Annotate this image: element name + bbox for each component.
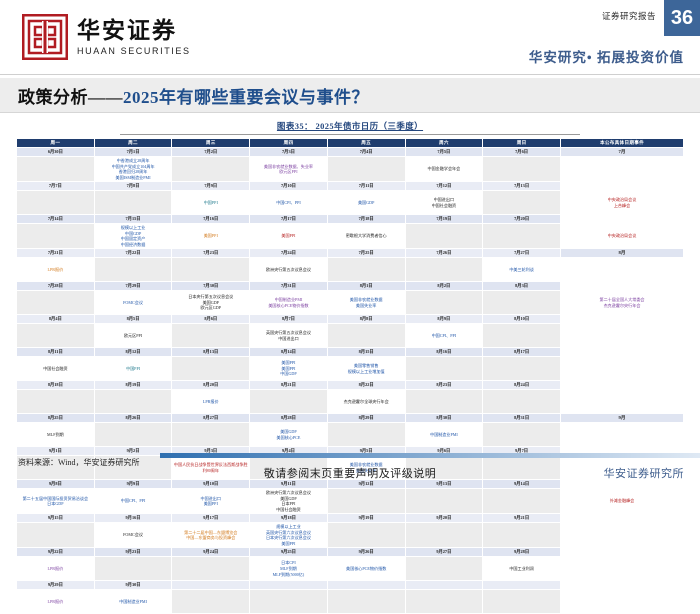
calendar-event: 中国社会融资 [18, 366, 93, 372]
calendar-date-cell[interactable]: 8月15日 [327, 348, 405, 357]
calendar-date-cell[interactable]: 7月11日 [327, 182, 405, 191]
calendar-day-cell[interactable]: 日本央行第五次议息会议美国GDP欧元区GDP [172, 291, 250, 315]
calendar-event: MLF到期 [18, 432, 93, 438]
calendar-day-cell[interactable] [483, 157, 561, 182]
calendar-date-cell[interactable]: 8月18日 [17, 381, 95, 390]
calendar-date-cell[interactable]: 8月28日 [250, 414, 328, 423]
calendar-date-cell[interactable]: 8月19日 [94, 381, 172, 390]
calendar-date-cell[interactable]: 7月25日 [327, 249, 405, 258]
header-divider [0, 74, 700, 75]
calendar-date-cell[interactable]: 7月20日 [483, 215, 561, 224]
calendar-month-label: 8月 [561, 249, 684, 258]
calendar-side-spacer [561, 514, 684, 523]
calendar-event-row: LPR报价中国制造业PMI [17, 590, 684, 614]
calendar-day-cell[interactable] [327, 324, 405, 348]
huaan-seal-logo-icon [22, 14, 68, 60]
calendar-day-cell[interactable]: 美国零售销售规模以上工业增加值 [327, 357, 405, 381]
calendar-date-cell[interactable]: 7月19日 [405, 215, 483, 224]
calendar-event: 美国PPI [251, 233, 326, 239]
calendar-day-cell[interactable] [327, 423, 405, 447]
calendar-day-cell[interactable] [483, 324, 561, 348]
calendar-col-header: 周五 [327, 139, 405, 148]
calendar-day-cell[interactable] [17, 291, 95, 315]
calendar-side-event-cell[interactable] [561, 258, 684, 282]
calendar-day-cell[interactable] [327, 258, 405, 282]
calendar-day-cell[interactable]: 中国CPI、PPI [405, 324, 483, 348]
calendar-date-cell[interactable]: 8月21日 [250, 381, 328, 390]
calendar-date-cell[interactable]: 7月12日 [405, 182, 483, 191]
calendar-col-header: 周六 [405, 139, 483, 148]
calendar-event: 杰克逊霍尔全球央行年会 [329, 399, 404, 405]
calendar-side-event-cell[interactable] [561, 590, 684, 614]
calendar-date-row: 8月25日8月26日8月27日8月28日8月29日8月30日8月31日9月 [17, 414, 684, 423]
brand-name-cn: 华安证券 [77, 19, 191, 42]
calendar-date-cell[interactable]: 9月26日 [327, 548, 405, 557]
calendar-side-event-cell[interactable] [561, 157, 684, 182]
calendar-side-event-cell[interactable] [561, 324, 684, 348]
calendar-day-cell[interactable]: 第二十五届中国国际投资贸易洽谈会日本GDP [17, 489, 95, 514]
calendar-event: LPR报价 [18, 566, 93, 572]
calendar-day-cell[interactable]: 美国核心PCE物价指数 [327, 557, 405, 581]
calendar-day-cell[interactable] [405, 224, 483, 249]
calendar-day-cell[interactable]: 中国制造业PMI [405, 423, 483, 447]
calendar-day-cell[interactable] [483, 390, 561, 414]
calendar-date-cell[interactable]: 8月1日 [327, 282, 405, 291]
calendar-event: 中国进出口 [251, 336, 326, 342]
calendar-date-cell[interactable]: 8月20日 [172, 381, 250, 390]
calendar-date-cell[interactable]: 6月30日 [17, 148, 95, 157]
calendar-side-spacer [561, 215, 684, 224]
calendar-event: 中国制造业PMI [407, 432, 482, 438]
calendar-date-cell[interactable]: 8月10日 [483, 315, 561, 324]
calendar-day-cell[interactable] [172, 258, 250, 282]
page-title: 政策分析——2025年有哪些重要会议与事件？ [18, 83, 369, 108]
calendar-date-cell[interactable]: 8月9日 [405, 315, 483, 324]
calendar-event-row: MLF到期美国GDP美国核心PCE中国制造业PMI [17, 423, 684, 447]
calendar-date-cell[interactable]: 7月1日 [94, 148, 172, 157]
calendar-day-cell[interactable] [405, 557, 483, 581]
calendar-date-cell[interactable]: 8月4日 [17, 315, 95, 324]
calendar-date-cell[interactable]: 7月13日 [483, 182, 561, 191]
calendar-side-event: 上合峰会 [562, 203, 682, 209]
calendar-day-cell[interactable] [483, 423, 561, 447]
brand-name-en: HUAAN SECURITIES [77, 47, 191, 56]
calendar-day-cell[interactable] [483, 224, 561, 249]
calendar-day-cell[interactable]: 中国进出口美国PPI [172, 489, 250, 514]
calendar-day-cell[interactable]: 中国社会融资 [17, 357, 95, 381]
calendar-date-cell[interactable]: 7月18日 [327, 215, 405, 224]
calendar-side-spacer [561, 182, 684, 191]
calendar-day-cell[interactable]: 中国PPI [94, 357, 172, 381]
calendar-date-cell[interactable]: 7月6日 [483, 148, 561, 157]
calendar-date-row: 7月28日7月29日7月30日7月31日8月1日8月2日8月3日 [17, 282, 684, 291]
calendar-date-cell[interactable]: 7月10日 [250, 182, 328, 191]
calendar-side-event-cell[interactable] [561, 523, 684, 548]
calendar-event: 美国核心PCE物价指数 [329, 566, 404, 572]
calendar-day-cell[interactable]: 中国CPI、PPI [94, 489, 172, 514]
calendar-date-row: 8月18日8月19日8月20日8月21日8月22日8月23日8月24日 [17, 381, 684, 390]
calendar-date-cell[interactable]: 8月22日 [327, 381, 405, 390]
disclaimer-note: 敬请参阅末页重要声明及评级说明 [0, 465, 700, 481]
calendar-date-cell[interactable]: 8月17日 [483, 348, 561, 357]
calendar-date-cell[interactable]: 9月15日 [17, 514, 95, 523]
calendar-date-cell[interactable]: 7月26日 [405, 249, 483, 258]
calendar-date-cell[interactable]: 9月17日 [172, 514, 250, 523]
calendar-event: 中国金融学会年会 [407, 166, 482, 172]
calendar-side-event: 中央政治局会议 [562, 233, 682, 239]
calendar-date-cell[interactable]: 8月5日 [94, 315, 172, 324]
calendar-day-cell[interactable] [405, 390, 483, 414]
calendar-col-header: 本公布具体日期事件 [561, 139, 684, 148]
calendar-date-cell[interactable]: 9月30日 [94, 581, 172, 590]
calendar-date-cell[interactable]: 7月24日 [250, 249, 328, 258]
calendar-day-cell[interactable] [483, 523, 561, 548]
calendar-event: 美国核心PCE [251, 435, 326, 441]
calendar-event: 中国PPI [96, 366, 171, 372]
calendar-date-cell[interactable]: 9月27日 [405, 548, 483, 557]
calendar-day-cell[interactable] [327, 523, 405, 548]
calendar-date-row: 7月14日7月15日7月16日7月17日7月18日7月19日7月20日 [17, 215, 684, 224]
calendar-date-cell[interactable]: 9月28日 [483, 548, 561, 557]
calendar-date-cell[interactable]: 7月3日 [250, 148, 328, 157]
calendar-day-cell[interactable] [17, 324, 95, 348]
calendar-date-cell[interactable]: 7月28日 [17, 282, 95, 291]
calendar-side-event-cell[interactable] [561, 423, 684, 447]
calendar-day-cell[interactable] [172, 423, 250, 447]
calendar-day-cell[interactable]: 密歇根大学消费者信心 [327, 224, 405, 249]
section-title-band: 政策分析——2025年有哪些重要会议与事件？ [0, 78, 700, 113]
calendar-container: 周一周二周三周四周五周六周日本公布具体日期事件 6月30日7月1日7月2日7月3… [16, 138, 684, 614]
calendar-event: 日本GDP [18, 501, 93, 507]
calendar-day-cell[interactable]: 中香港成立28周年中国共产党成立104周年香港回归28周年美国ISM制造业PMI [94, 157, 172, 182]
calendar-date-cell[interactable]: 9月24日 [172, 548, 250, 557]
brand-slogan: 华安研究• 拓展投资价值 [529, 46, 684, 66]
calendar-date-cell[interactable]: 8月6日 [172, 315, 250, 324]
calendar-event-row: LPR报价欧洲央行第五次议息会议中美三轮利谈 [17, 258, 684, 282]
calendar-event: 规模以上工业增加值 [329, 369, 404, 375]
calendar-date-row: 9月22日9月23日9月24日9月25日9月26日9月27日9月28日 [17, 548, 684, 557]
calendar-event: 欧洲央行第五次议息会议 [251, 267, 326, 273]
calendar-event: 中国—东盟商务与投资峰会 [173, 535, 248, 541]
calendar-event-row: FOMC会议第二十二届中国—东盟博览会中国—东盟商务与投资峰会规模以上工业英国央… [17, 523, 684, 548]
calendar-date-cell[interactable]: 9月18日 [250, 514, 328, 523]
page-title-prefix: 政策分析—— [18, 88, 123, 107]
calendar-day-cell[interactable]: 中国制造业PMI美国核心PCE物价指数 [250, 291, 328, 315]
calendar-date-row: 8月4日8月5日8月6日8月7日8月8日8月9日8月10日 [17, 315, 684, 324]
calendar-event: 欧元区PPI [251, 169, 326, 175]
calendar-event-row: 第二十五届中国国际投资贸易洽谈会日本GDP中国CPI、PPI中国进出口美国PPI… [17, 489, 684, 514]
calendar-event: 欧元区PPI [96, 333, 171, 339]
calendar-day-cell[interactable]: 中国金融学会年会 [405, 157, 483, 182]
calendar-date-cell[interactable]: 7月2日 [172, 148, 250, 157]
calendar-day-cell[interactable] [172, 157, 250, 182]
calendar-date-cell[interactable]: 7月5日 [405, 148, 483, 157]
calendar-day-cell[interactable] [405, 523, 483, 548]
calendar-event: 中国制造业PMI [96, 599, 171, 605]
calendar-day-cell[interactable] [17, 224, 95, 249]
calendar-day-cell[interactable]: 规模以上工业中国GDP中国固定资产中国经济数据 [94, 224, 172, 249]
calendar-side-spacer [561, 282, 684, 291]
calendar-day-cell[interactable]: 日本CPIMLF到期MLF到期(5000亿) [250, 557, 328, 581]
calendar-event-row: LPR报价杰克逊霍尔全球央行年会 [17, 390, 684, 414]
calendar-day-cell[interactable] [17, 390, 95, 414]
calendar-date-cell[interactable]: 9月25日 [250, 548, 328, 557]
report-kind-label: 证券研究报告 [602, 10, 656, 22]
calendar-date-cell[interactable]: 7月7日 [17, 182, 95, 191]
calendar-day-cell[interactable] [327, 489, 405, 514]
calendar-date-cell[interactable]: 7月8日 [94, 182, 172, 191]
calendar-event: 美国PPI [251, 541, 326, 547]
calendar-date-cell[interactable]: 7月15日 [94, 215, 172, 224]
calendar-day-cell[interactable]: 第二十二届中国—东盟博览会中国—东盟商务与投资峰会 [172, 523, 250, 548]
calendar-event-row: LPR报价日本CPIMLF到期MLF到期(5000亿)美国核心PCE物价指数中国… [17, 557, 684, 581]
calendar-day-cell[interactable]: 美国非农就业数据美国失业率 [327, 291, 405, 315]
calendar-date-row: 7月7日7月8日7月9日7月10日7月11日7月12日7月13日 [17, 182, 684, 191]
calendar-day-cell[interactable]: 欧洲央行第五次议息会议 [250, 258, 328, 282]
calendar-date-cell[interactable]: 8月31日 [483, 414, 561, 423]
calendar-date-cell[interactable]: 8月27日 [172, 414, 250, 423]
calendar-day-cell[interactable] [172, 590, 250, 614]
calendar-day-cell[interactable] [483, 291, 561, 315]
calendar-event: LPR报价 [173, 399, 248, 405]
calendar-event-row: 规模以上工业中国GDP中国固定资产中国经济数据美国PPI美国PPI密歇根大学消费… [17, 224, 684, 249]
calendar-side-event-cell[interactable]: 外滩金融峰会 [561, 489, 684, 514]
calendar-date-cell[interactable]: 9月16日 [94, 514, 172, 523]
calendar-date-cell[interactable]: 8月25日 [17, 414, 95, 423]
calendar-date-cell[interactable] [250, 581, 328, 590]
calendar-event-row: 中国PPI中国CPI、PPI美国GDP中国进出口中国社会融资中央政治局会议上合峰… [17, 191, 684, 215]
calendar-day-cell[interactable]: 规模以上工业英国央行第六次议息会议日本央行第六次议息会议美国PPI [250, 523, 328, 548]
calendar-date-cell[interactable]: 8月11日 [17, 348, 95, 357]
calendar-day-cell[interactable]: LPR报价 [17, 258, 95, 282]
calendar-day-cell[interactable] [327, 590, 405, 614]
calendar-event: 中国CPI、PPI [407, 333, 482, 339]
calendar-day-cell[interactable]: 中国制造业PMI [94, 590, 172, 614]
calendar-date-cell[interactable]: 9月20日 [405, 514, 483, 523]
calendar-event: 美国PPI [173, 233, 248, 239]
calendar-body: 6月30日7月1日7月2日7月3日7月4日7月5日7月6日7月中香港成立28周年… [17, 148, 684, 614]
calendar-day-cell[interactable]: 中美三轮利谈 [483, 258, 561, 282]
calendar-side-spacer [561, 548, 684, 557]
exhibit-underline [120, 134, 580, 135]
calendar-day-cell[interactable]: 欧元区PPI [94, 324, 172, 348]
calendar-event: FOMC会议 [96, 300, 171, 306]
calendar-date-cell[interactable]: 7月14日 [17, 215, 95, 224]
calendar-header-row: 周一周二周三周四周五周六周日本公布具体日期事件 [17, 139, 684, 148]
calendar-day-cell[interactable] [483, 590, 561, 614]
calendar-day-cell[interactable]: FOMC会议 [94, 291, 172, 315]
page-number-badge: 36 [664, 0, 700, 36]
calendar-event: 美国核心PCE物价指数 [251, 303, 326, 309]
page-footer: 资料来源：Wind，华安证券研究所 敬请参阅末页重要声明及评级说明 华安证券研究… [0, 451, 700, 485]
calendar-side-event: 杰克逊霍尔央行年会 [562, 303, 682, 309]
calendar-event: 中国CPI、PPI [96, 498, 171, 504]
calendar-day-cell[interactable] [17, 157, 95, 182]
calendar-day-cell[interactable]: 中国PPI [172, 191, 250, 215]
calendar-date-cell[interactable]: 8月3日 [483, 282, 561, 291]
calendar-day-cell[interactable] [405, 258, 483, 282]
calendar-day-cell[interactable]: 杰克逊霍尔全球央行年会 [327, 390, 405, 414]
calendar-day-cell[interactable] [250, 390, 328, 414]
calendar-col-header: 周一 [17, 139, 95, 148]
calendar-month-label: 9月 [561, 414, 684, 423]
calendar-event: 密歇根大学消费者信心 [329, 233, 404, 239]
calendar-date-cell[interactable] [172, 581, 250, 590]
calendar-day-cell[interactable] [483, 357, 561, 381]
page-header: 华安证券 HUAAN SECURITIES 证券研究报告 36 华安研究• 拓展… [0, 0, 700, 78]
calendar-event: 中国工业利润 [484, 566, 559, 572]
calendar-side-spacer [561, 315, 684, 324]
calendar-day-cell[interactable]: 英国央行第五次议息会议中国进出口 [250, 324, 328, 348]
calendar-side-spacer [561, 381, 684, 390]
calendar-date-cell[interactable]: 8月14日 [250, 348, 328, 357]
calendar-day-cell[interactable] [172, 557, 250, 581]
calendar-day-cell[interactable]: 美国GDP [327, 191, 405, 215]
calendar-date-row: 6月30日7月1日7月2日7月3日7月4日7月5日7月6日7月 [17, 148, 684, 157]
calendar-date-cell[interactable]: 8月26日 [94, 414, 172, 423]
calendar-date-cell[interactable]: 8月13日 [172, 348, 250, 357]
calendar-day-cell[interactable]: 中国CPI、PPI [250, 191, 328, 215]
calendar-date-cell[interactable]: 7月27日 [483, 249, 561, 258]
calendar-day-cell[interactable] [94, 557, 172, 581]
calendar-date-cell[interactable]: 9月21日 [483, 514, 561, 523]
calendar-event: 中国CPI、PPI [251, 200, 326, 206]
calendar-day-cell[interactable]: FOMC会议 [94, 523, 172, 548]
calendar-date-cell[interactable]: 8月7日 [250, 315, 328, 324]
calendar-event: MLF到期(5000亿) [251, 572, 326, 578]
calendar-side-event-cell[interactable]: 中央政治局会议上合峰会 [561, 191, 684, 215]
calendar-day-cell[interactable] [172, 357, 250, 381]
calendar-day-cell[interactable] [483, 489, 561, 514]
calendar-date-cell[interactable]: 9月19日 [327, 514, 405, 523]
calendar-day-cell[interactable]: 美国GDP美国核心PCE [250, 423, 328, 447]
calendar-date-cell[interactable]: 8月8日 [327, 315, 405, 324]
calendar-event: 中国社会融资 [251, 507, 326, 513]
calendar-day-cell[interactable]: LPR报价 [17, 590, 95, 614]
brand-lockup: 华安证券 HUAAN SECURITIES [22, 14, 191, 60]
calendar-date-cell[interactable]: 8月2日 [405, 282, 483, 291]
calendar-day-cell[interactable]: 中国进出口中国社会融资 [405, 191, 483, 215]
calendar-event: LPR报价 [18, 267, 93, 273]
calendar-day-cell[interactable]: 美国非农就业数据、失业率欧元区PPI [250, 157, 328, 182]
calendar-date-row: 7月21日7月22日7月23日7月24日7月25日7月26日7月27日8月 [17, 249, 684, 258]
calendar-day-cell[interactable] [94, 258, 172, 282]
calendar-event: LPR报价 [18, 599, 93, 605]
calendar-day-cell[interactable] [94, 191, 172, 215]
calendar-side-event: 外滩金融峰会 [562, 498, 682, 504]
calendar-date-cell[interactable]: 7月21日 [17, 249, 95, 258]
calendar-side-spacer [561, 581, 684, 590]
calendar-date-cell[interactable]: 7月4日 [327, 148, 405, 157]
calendar-day-cell[interactable]: 欧洲央行第六次议息会议美国GDP日本PPI中国社会融资 [250, 489, 328, 514]
calendar-side-event-cell[interactable]: 中央政治局会议 [561, 224, 684, 249]
calendar-day-cell[interactable]: 美国PPI [172, 224, 250, 249]
calendar-day-cell[interactable] [483, 191, 561, 215]
calendar-event: 中国经济数据 [96, 242, 171, 248]
calendar-event-row: FOMC会议日本央行第五次议息会议美国GDP欧元区GDP中国制造业PMI美国核心… [17, 291, 684, 315]
exhibit-caption: 图表35： 2025年债市日历（三季度） [0, 120, 700, 132]
calendar-table: 周一周二周三周四周五周六周日本公布具体日期事件 6月30日7月1日7月2日7月3… [16, 138, 684, 614]
calendar-event: FOMC会议 [96, 532, 171, 538]
calendar-event: 中国社会融资 [407, 203, 482, 209]
calendar-day-cell[interactable] [94, 423, 172, 447]
calendar-day-cell[interactable] [327, 157, 405, 182]
calendar-date-cell[interactable]: 8月12日 [94, 348, 172, 357]
calendar-day-cell[interactable] [405, 590, 483, 614]
calendar-day-cell[interactable]: 中国工业利润 [483, 557, 561, 581]
calendar-day-cell[interactable]: MLF到期 [17, 423, 95, 447]
calendar-day-cell[interactable] [405, 291, 483, 315]
calendar-col-header: 周日 [483, 139, 561, 148]
calendar-date-cell[interactable] [327, 581, 405, 590]
calendar-date-cell[interactable]: 7月31日 [250, 282, 328, 291]
calendar-date-cell[interactable]: 8月24日 [483, 381, 561, 390]
calendar-event: 欧元区GDP [173, 305, 248, 311]
calendar-date-cell[interactable]: 9月29日 [17, 581, 95, 590]
calendar-date-cell[interactable]: 7月29日 [94, 282, 172, 291]
calendar-col-header: 周四 [250, 139, 328, 148]
calendar-side-spacer [561, 348, 684, 357]
calendar-date-cell[interactable]: 7月16日 [172, 215, 250, 224]
calendar-event: 美国失业率 [329, 303, 404, 309]
calendar-side-event-cell[interactable] [561, 557, 684, 581]
calendar-side-event-cell[interactable] [561, 390, 684, 414]
calendar-event: 美国PPI [173, 501, 248, 507]
footer-brand: 华安证券研究所 [604, 465, 685, 481]
calendar-col-header: 周二 [94, 139, 172, 148]
calendar-event-row: 中香港成立28周年中国共产党成立104周年香港回归28周年美国ISM制造业PMI… [17, 157, 684, 182]
calendar-date-cell[interactable] [483, 581, 561, 590]
calendar-event: 中美三轮利谈 [484, 267, 559, 273]
calendar-event: 美国GDP [329, 200, 404, 206]
calendar-side-event-cell[interactable] [561, 357, 684, 381]
calendar-day-cell[interactable] [250, 590, 328, 614]
calendar-col-header: 周三 [172, 139, 250, 148]
calendar-date-row: 9月29日9月30日 [17, 581, 684, 590]
calendar-date-cell[interactable]: 8月29日 [327, 414, 405, 423]
page-title-accent: 2025年有哪些重要会议与事件？ [123, 88, 369, 107]
calendar-date-cell[interactable]: 7月30日 [172, 282, 250, 291]
calendar-date-cell[interactable]: 7月17日 [250, 215, 328, 224]
calendar-day-cell[interactable]: LPR报价 [17, 557, 95, 581]
calendar-date-cell[interactable]: 9月23日 [94, 548, 172, 557]
calendar-date-cell[interactable]: 8月16日 [405, 348, 483, 357]
calendar-date-cell[interactable]: 7月23日 [172, 249, 250, 258]
calendar-day-cell[interactable] [17, 523, 95, 548]
calendar-event-row: 欧元区PPI英国央行第五次议息会议中国进出口中国CPI、PPI [17, 324, 684, 348]
calendar-day-cell[interactable] [172, 324, 250, 348]
calendar-day-cell[interactable] [405, 489, 483, 514]
calendar-date-cell[interactable]: 8月23日 [405, 381, 483, 390]
calendar-event: 美国ISM制造业PMI [96, 175, 171, 181]
calendar-date-row: 8月11日8月12日8月13日8月14日8月15日8月16日8月17日 [17, 348, 684, 357]
calendar-month-label: 7月 [561, 148, 684, 157]
calendar-side-event-cell[interactable]: 第二十届全国人大常委会杰克逊霍尔央行年会 [561, 291, 684, 315]
calendar-date-cell[interactable]: 7月22日 [94, 249, 172, 258]
calendar-date-cell[interactable]: 7月9日 [172, 182, 250, 191]
calendar-day-cell[interactable]: 美国PPI美国PPI中国GDP [250, 357, 328, 381]
calendar-event-row: 中国社会融资中国PPI美国PPI美国PPI中国GDP美国零售销售规模以上工业增加… [17, 357, 684, 381]
calendar-day-cell[interactable]: LPR报价 [172, 390, 250, 414]
calendar-date-cell[interactable]: 9月22日 [17, 548, 95, 557]
calendar-event: 中国PPI [173, 200, 248, 206]
calendar-day-cell[interactable]: 美国PPI [250, 224, 328, 249]
calendar-date-cell[interactable]: 8月30日 [405, 414, 483, 423]
calendar-date-cell[interactable] [405, 581, 483, 590]
calendar-day-cell[interactable] [17, 191, 95, 215]
calendar-day-cell[interactable] [405, 357, 483, 381]
calendar-day-cell[interactable] [94, 390, 172, 414]
